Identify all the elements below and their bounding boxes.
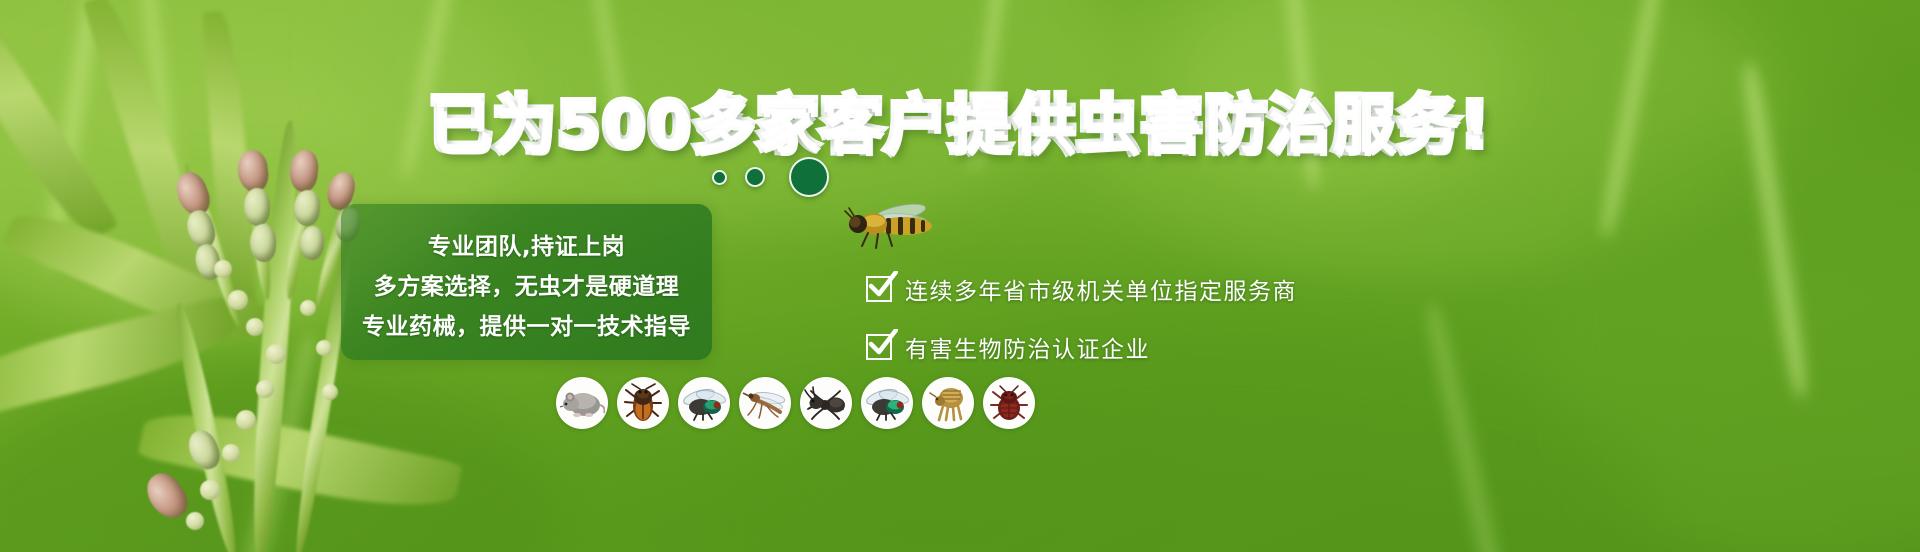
feature-text: 连续多年省市级机关单位指定服务商	[905, 272, 1297, 306]
slogan-line-1: 专业团队,持证上岗	[428, 227, 625, 261]
pest-icon-row	[556, 377, 1035, 429]
bedbug-icon[interactable]	[983, 377, 1035, 429]
check-square-icon	[866, 276, 892, 302]
ant-icon[interactable]	[800, 377, 852, 429]
slogan-panel: 专业团队,持证上岗 多方案选择，无虫才是硬道理 专业药械，提供一对一技术指导	[341, 204, 712, 360]
slogan-line-3: 专业药械，提供一对一技术指导	[362, 307, 691, 341]
banner-headline-text: 已为500多家客户提供虫害防治服务!	[429, 88, 1491, 161]
decor-dot-large	[789, 157, 829, 197]
blowfly-icon[interactable]	[861, 377, 913, 429]
rodent-icon[interactable]	[556, 377, 608, 429]
slogan-line-2: 多方案选择，无虫才是硬道理	[374, 267, 680, 301]
decor-dot-small	[712, 170, 727, 185]
feature-list: 连续多年省市级机关单位指定服务商 有害生物防治认证企业	[866, 272, 1297, 364]
hoverfly-icon	[836, 196, 966, 256]
mosquito-icon[interactable]	[739, 377, 791, 429]
feature-item: 连续多年省市级机关单位指定服务商	[866, 272, 1297, 306]
decor-dot-mid	[745, 167, 765, 187]
headline-decor-dots	[712, 157, 829, 197]
fly-icon[interactable]	[678, 377, 730, 429]
check-square-icon	[866, 334, 892, 360]
cockroach-icon[interactable]	[617, 377, 669, 429]
flea-icon[interactable]	[922, 377, 974, 429]
banner-headline: 已为500多家客户提供虫害防治服务!	[0, 74, 1920, 164]
feature-item: 有害生物防治认证企业	[866, 330, 1297, 364]
pest-control-promo-banner: 已为500多家客户提供虫害防治服务! 专业团队,持证上岗 多方案选择，无虫才是硬…	[0, 0, 1920, 552]
feature-text: 有害生物防治认证企业	[905, 330, 1150, 364]
